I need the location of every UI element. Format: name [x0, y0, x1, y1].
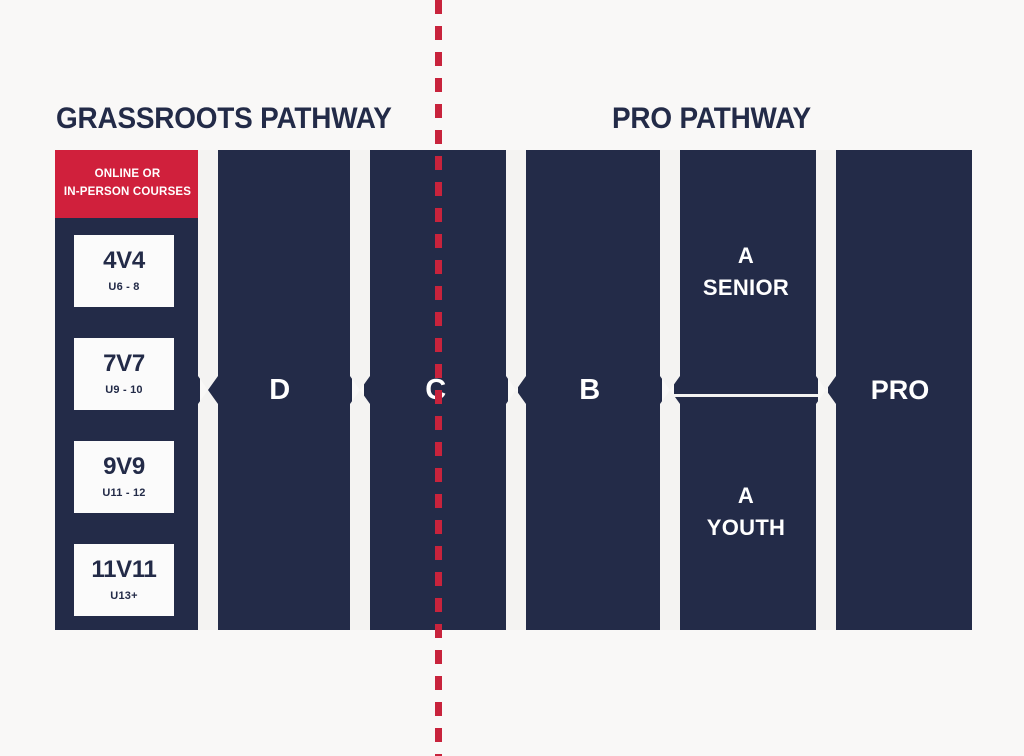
- age-group-format: 11V11: [91, 558, 156, 582]
- pathway-diagram: ONLINE OR IN-PERSON COURSES 4V4 U6 - 8 7…: [0, 150, 1024, 630]
- chevron-right-icon: [350, 150, 370, 630]
- grassroots-pathway-heading: GRASSROOTS PATHWAY: [56, 104, 392, 134]
- age-group-format: 4V4: [103, 249, 145, 273]
- pro-column[interactable]: PRO: [828, 150, 972, 630]
- chevron-right-icon: [198, 150, 218, 630]
- pathway-divider-line: [435, 0, 442, 756]
- level-a-senior-cell[interactable]: A SENIOR: [674, 150, 818, 393]
- chevron-right-icon: [660, 150, 680, 630]
- level-a-senior-line-2: SENIOR: [703, 272, 789, 304]
- online-or-in-person-courses-badge[interactable]: ONLINE OR IN-PERSON COURSES: [55, 150, 200, 218]
- courses-badge-line-1: ONLINE OR: [95, 166, 161, 184]
- age-group-range: U9 - 10: [105, 385, 142, 396]
- level-d-label: D: [208, 150, 352, 630]
- age-group-box[interactable]: 9V9 U11 - 12: [74, 441, 174, 513]
- age-group-box[interactable]: 11V11 U13+: [74, 544, 174, 616]
- level-d-column[interactable]: D: [208, 150, 352, 630]
- age-group-range: U13+: [110, 591, 137, 602]
- age-group-format: 9V9: [103, 455, 145, 479]
- level-a-column[interactable]: A SENIOR A YOUTH: [674, 150, 818, 630]
- level-a-youth-cell[interactable]: A YOUTH: [674, 393, 818, 630]
- courses-badge-line-2: IN-PERSON COURSES: [64, 184, 191, 202]
- pro-pathway-heading: PRO PATHWAY: [612, 104, 811, 134]
- age-group-box[interactable]: 4V4 U6 - 8: [74, 235, 174, 307]
- age-group-range: U11 - 12: [102, 488, 145, 499]
- level-a-senior-line-1: A: [738, 240, 754, 272]
- level-b-label: B: [518, 150, 662, 630]
- age-group-range: U6 - 8: [108, 282, 139, 293]
- chevron-right-icon: [506, 150, 526, 630]
- level-a-youth-line-1: A: [738, 480, 754, 512]
- grassroots-column[interactable]: ONLINE OR IN-PERSON COURSES 4V4 U6 - 8 7…: [55, 150, 200, 630]
- age-group-box[interactable]: 7V7 U9 - 10: [74, 338, 174, 410]
- age-group-format: 7V7: [103, 352, 145, 376]
- chevron-right-icon: [816, 150, 836, 630]
- level-a-youth-line-2: YOUTH: [707, 512, 786, 544]
- pro-label: PRO: [828, 150, 972, 630]
- level-b-column[interactable]: B: [518, 150, 662, 630]
